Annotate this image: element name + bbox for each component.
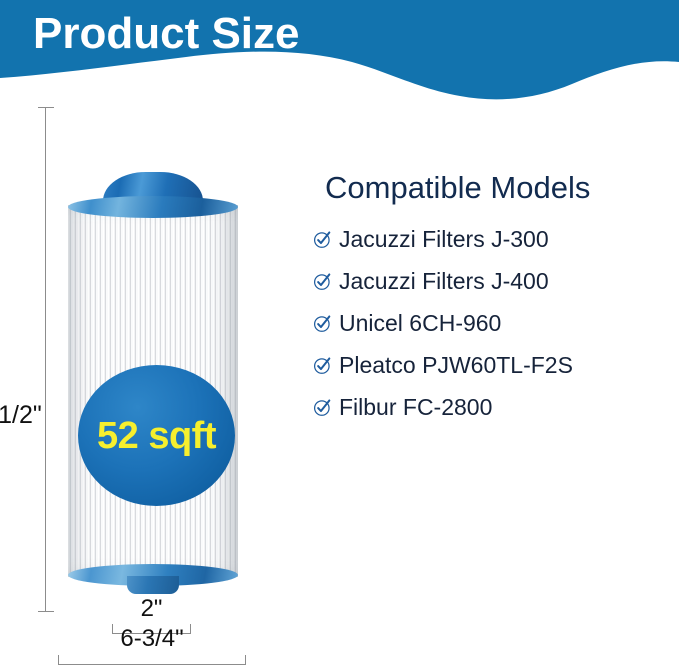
product-size-infographic: Product Size 15-1/2" 52 sqft 2" <box>0 0 679 670</box>
height-dimension-line <box>38 107 54 612</box>
circled-check-icon <box>313 398 332 417</box>
list-item-label: Filbur FC-2800 <box>339 392 492 422</box>
list-item-label: Jacuzzi Filters J-400 <box>339 266 549 296</box>
height-dimension-tick-top <box>38 107 54 108</box>
inner-width-label: 2" <box>112 595 191 623</box>
height-dimension-label: 15-1/2" <box>0 400 57 430</box>
circled-check-icon <box>313 230 332 249</box>
product-figure: 15-1/2" 52 sqft 2" 6-3/4" <box>0 100 300 670</box>
compatible-models-panel: Compatible Models Jacuzzi Filters J-300 … <box>313 170 673 434</box>
circled-check-icon <box>313 356 332 375</box>
compatible-models-heading: Compatible Models <box>325 170 673 206</box>
outer-width-tick-right <box>245 655 246 665</box>
page-title: Product Size <box>33 8 300 60</box>
outer-width-dimension-line <box>58 655 246 665</box>
circled-check-icon <box>313 314 332 333</box>
outer-width-label: 6-3/4" <box>58 625 246 653</box>
compatible-models-list: Jacuzzi Filters J-300 Jacuzzi Filters J-… <box>313 224 673 422</box>
list-item: Jacuzzi Filters J-400 <box>313 266 673 296</box>
sqft-badge-label: 52 sqft <box>97 416 216 456</box>
list-item-label: Jacuzzi Filters J-300 <box>339 224 549 254</box>
list-item: Filbur FC-2800 <box>313 392 673 422</box>
list-item: Unicel 6CH-960 <box>313 308 673 338</box>
list-item: Jacuzzi Filters J-300 <box>313 224 673 254</box>
circled-check-icon <box>313 272 332 291</box>
header-banner: Product Size <box>0 0 679 108</box>
height-dimension-tick-bottom <box>38 611 54 612</box>
filter-cap-rim <box>68 196 238 218</box>
list-item-label: Unicel 6CH-960 <box>339 308 501 338</box>
sqft-badge: 52 sqft <box>78 365 235 506</box>
list-item: Pleatco PJW60TL-F2S <box>313 350 673 380</box>
filter-base-hub <box>127 576 179 594</box>
list-item-label: Pleatco PJW60TL-F2S <box>339 350 573 380</box>
outer-width-rule <box>58 664 246 665</box>
height-dimension-rule <box>45 107 46 612</box>
